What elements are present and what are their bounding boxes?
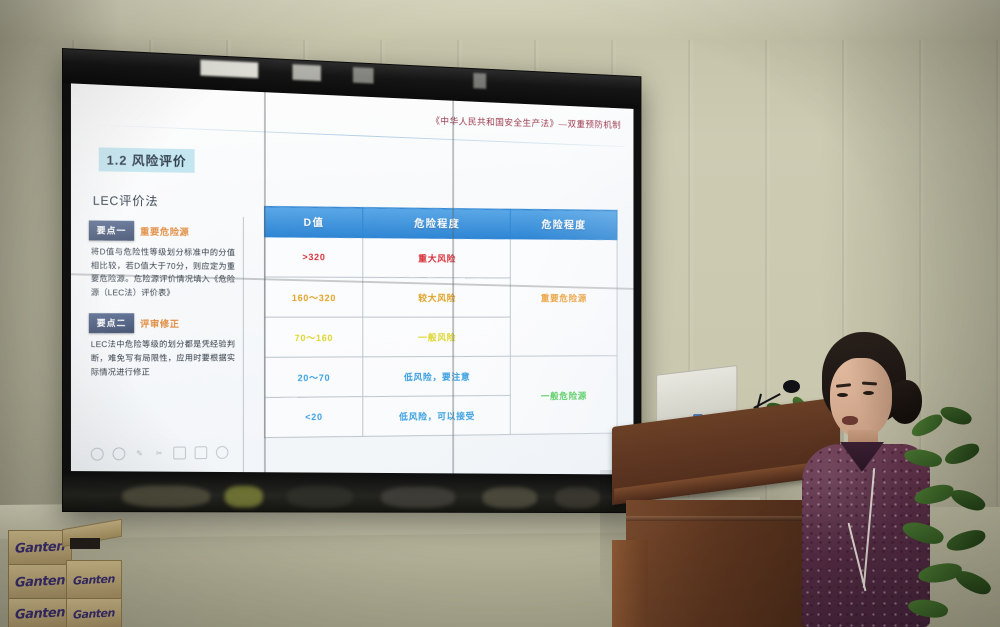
eraser-icon[interactable]	[173, 447, 186, 460]
col-header-hazard-source: 危险程度	[510, 209, 617, 239]
points-column: 要点一 重要危险源 将D值与危险性等级划分标准中的分值相比较，若D值大于70分，…	[89, 220, 235, 393]
presentation-toolbar[interactable]: ✎ ✂	[91, 446, 229, 461]
box-brand-label: Ganten	[15, 539, 65, 557]
point-row-2: 要点二 评审修正	[89, 314, 235, 334]
pen-icon[interactable]: ✎	[134, 448, 145, 459]
slide-title: 1.2 风险评价	[99, 147, 195, 172]
cell-d-value: >320	[264, 237, 363, 278]
cell-risk-level: 低风险，可以接受	[363, 395, 510, 436]
box-brand-label: Ganten	[73, 572, 115, 587]
cardboard-boxes: Ganten Ganten Ganten Ganten Ganten	[0, 516, 120, 627]
cell-d-value: <20	[264, 397, 363, 438]
slide-header-text: 《中华人民共和国安全生产法》—双重预防机制	[431, 113, 621, 131]
mouth	[842, 416, 858, 425]
panel-seam-vertical-2	[452, 101, 454, 474]
point-badge-2: 要点二	[89, 314, 134, 334]
settings-icon[interactable]	[216, 446, 229, 459]
slide-subtitle: LEC评价法	[93, 190, 159, 210]
table-header-row: D值 危险程度 危险程度	[264, 206, 617, 239]
eye-left	[837, 393, 848, 397]
col-header-d-value: D值	[264, 206, 363, 237]
face-shading	[830, 358, 892, 438]
slide-content: 《中华人民共和国安全生产法》—双重预防机制 1.2 风险评价 LEC评价法 要点…	[71, 83, 633, 474]
box-brand-label: Ganten	[15, 605, 65, 623]
cell-hazard-source-major: 重要危险源	[510, 239, 617, 356]
point-body-1: 将D值与危险性等级划分标准中的分值相比较，若D值大于70分，则应定为重要危险源。…	[91, 245, 235, 300]
box-brand-label: Ganten	[15, 573, 65, 591]
screen-bezel-bottom	[63, 471, 641, 512]
slide-icon[interactable]	[195, 446, 208, 459]
panel-seam-vertical-1	[264, 92, 266, 472]
presentation-scene: 《中华人民共和国安全生产法》—双重预防机制 1.2 风险评价 LEC评价法 要点…	[0, 0, 1000, 627]
cell-risk-level: 一般风险	[363, 317, 510, 357]
pointer-icon[interactable]	[91, 448, 104, 461]
point-badge-1: 要点一	[89, 220, 134, 240]
cell-risk-level: 低风险，要注意	[363, 356, 510, 396]
box-4: Ganten	[66, 560, 122, 600]
risk-evaluation-table: D值 危险程度 危险程度 >320 重大风险 重要危险源	[264, 206, 618, 438]
highlighter-icon[interactable]: ✂	[154, 448, 165, 459]
eye-right	[863, 391, 874, 395]
point-body-2: LEC法中危险等级的划分都是凭经验判断，难免写有局限性，应用时要根据实际情况进行…	[91, 338, 235, 379]
cell-d-value: 160～320	[264, 277, 363, 317]
point-heading-1: 重要危险源	[140, 224, 189, 238]
floor-plant	[900, 408, 1000, 627]
cell-d-value: 20～70	[264, 357, 363, 398]
cell-hazard-source-general: 一般危险源	[510, 356, 617, 435]
box-2: Ganten	[8, 564, 72, 600]
risk-table-container: D值 危险程度 危险程度 >320 重大风险 重要危险源	[264, 206, 618, 438]
col-header-risk-level: 危险程度	[363, 208, 510, 239]
table-row: >320 重大风险 重要危险源	[264, 237, 617, 279]
point-heading-2: 评审修正	[140, 317, 179, 331]
box-5: Ganten	[66, 598, 122, 627]
box-3: Ganten	[8, 598, 72, 627]
cell-d-value: 70～160	[264, 317, 363, 357]
column-divider	[243, 217, 244, 475]
podium-side-panel	[612, 540, 648, 627]
table-row: 20～70 低风险，要注意 一般危险源	[264, 356, 617, 398]
box-brand-label: Ganten	[73, 606, 115, 621]
screen-display-area[interactable]: 《中华人民共和国安全生产法》—双重预防机制 1.2 风险评价 LEC评价法 要点…	[71, 83, 633, 474]
circle-icon[interactable]	[113, 447, 126, 460]
point-row-1: 要点一 重要危险源	[89, 220, 235, 241]
video-wall-screen[interactable]: 《中华人民共和国安全生产法》—双重预防机制 1.2 风险评价 LEC评价法 要点…	[62, 48, 641, 513]
box-opening	[70, 538, 100, 549]
cell-risk-level: 重大风险	[363, 238, 510, 278]
